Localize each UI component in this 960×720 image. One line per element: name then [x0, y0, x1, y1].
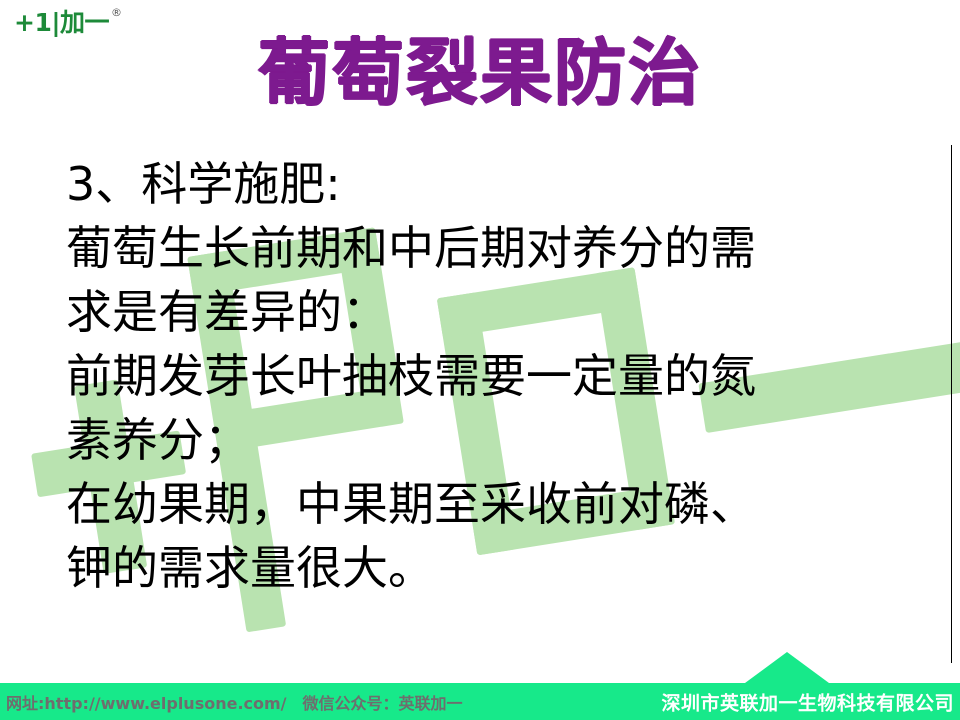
- body-line: 3、科学施肥:: [66, 152, 916, 216]
- footer-peak-triangle-icon: [745, 652, 829, 683]
- body-text: 3、科学施肥: 葡萄生长前期和中后期对养分的需 求是有差异的： 前期发芽长叶抽枝…: [66, 152, 916, 600]
- body-line: 求是有差异的：: [66, 280, 916, 344]
- registered-trademark-icon: ®: [111, 7, 122, 18]
- footer-bar: 网址:http://www.elplusone.com/ 微信公众号：英联加一 …: [0, 683, 960, 720]
- footer-left-group: 网址:http://www.elplusone.com/ 微信公众号：英联加一: [6, 690, 463, 714]
- brand-logo-text: +1|加一: [14, 10, 109, 35]
- page-title: 葡萄裂果防治: [0, 36, 960, 112]
- right-edge-rule: [951, 145, 952, 663]
- body-line: 钾的需求量很大。: [66, 536, 916, 600]
- website-url-link[interactable]: 网址:http://www.elplusone.com/: [6, 690, 287, 714]
- body-line: 在幼果期，中果期至采收前对磷、: [66, 472, 916, 536]
- slide-canvas: +1|加一 ® 葡萄裂果防治 3、科学施肥: 葡萄生长前期和中后期对养分的需 求…: [0, 0, 960, 720]
- brand-logo: +1|加一 ®: [14, 10, 122, 35]
- wechat-account-label: 微信公众号：英联加一: [303, 690, 463, 714]
- body-line: 葡萄生长前期和中后期对养分的需: [66, 216, 916, 280]
- body-line: 前期发芽长叶抽枝需要一定量的氮: [66, 344, 916, 408]
- company-name-label: 深圳市英联加一生物科技有限公司: [661, 688, 954, 715]
- body-line: 素养分；: [66, 408, 916, 472]
